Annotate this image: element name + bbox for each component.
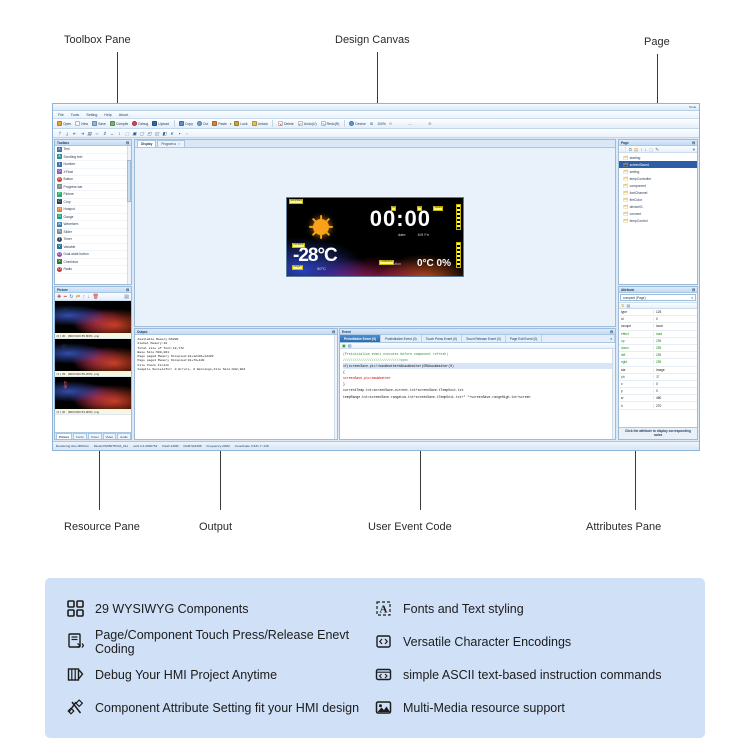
page-item-starting[interactable]: 🗂starting <box>619 154 697 161</box>
toolbox-item-timer[interactable]: TTimer <box>55 236 131 244</box>
delete-icon[interactable]: 🗑 <box>93 293 99 301</box>
toolbar-button-label: Copy <box>185 122 193 126</box>
lcd-date-label: date <box>398 232 406 237</box>
toolbox-item-label: Picture <box>64 192 74 196</box>
hotspot-icon: H <box>57 207 62 212</box>
design-canvas[interactable]: -28°C 50°C 00:00 date 6/9 Fri LowButton … <box>135 148 615 326</box>
move-down-icon[interactable]: ↓ <box>88 293 91 301</box>
resource-item[interactable]: ❄ (1 ) 39 · (800X320 85.2KB) .png <box>55 339 131 377</box>
attribute-value[interactable]: local <box>653 324 697 328</box>
variable-icon: V <box>57 244 62 249</box>
output-text[interactable]: Available Memory:65200 Global Memory:10 … <box>135 335 337 439</box>
menu-item-help[interactable]: Help <box>104 113 111 117</box>
page-item-label: component <box>630 184 646 188</box>
event-tab-touch-release[interactable]: Touch Release Event (0) <box>462 335 506 342</box>
component-tag: t1 <box>417 206 422 211</box>
toolbar-button-label: Upload <box>158 122 169 126</box>
toolbox-item-label: Radio <box>64 267 73 271</box>
attributes-title: Attribute <box>621 288 634 292</box>
page-item-tempcontrol[interactable]: 🗂tempControl <box>619 217 697 224</box>
toolbar-button-copy[interactable]: Copy <box>178 121 194 126</box>
lock-icon <box>234 121 239 126</box>
callout-line <box>99 450 100 510</box>
toolbox-item-label: Button <box>64 177 74 181</box>
toolbox-item-label: Timer <box>64 237 72 241</box>
toolbox-item-radio[interactable]: ORadio <box>55 266 131 274</box>
page-title: Page <box>621 141 629 145</box>
toolbox-item-scrolling-text[interactable]: AScrolling text <box>55 154 131 162</box>
code-line: tempRange.txt=screenSave.rangeLow.txt+sc… <box>343 394 612 400</box>
toolbar-zoom-level[interactable]: 100% <box>376 122 387 126</box>
attribute-key: h <box>619 404 653 408</box>
sort-icon[interactable]: ⇅ <box>621 303 625 308</box>
attribute-row[interactable]: type125 <box>619 309 697 316</box>
page-icon: 🗂 <box>623 211 628 216</box>
attribute-row[interactable]: pic37 <box>619 374 697 381</box>
code-scrollbar[interactable] <box>612 349 616 439</box>
size-icon[interactable]: ◧ <box>162 131 167 136</box>
status-model: Model:HMI80TP043_011 <box>94 444 128 448</box>
open-icon <box>57 121 62 126</box>
toolbox-pane: Toolbox ⊟ AText AScrolling text 1Number … <box>54 139 132 285</box>
attribute-key: down <box>619 346 653 350</box>
same-size-icon[interactable]: ⬚ <box>125 131 130 136</box>
align-bottom-icon[interactable]: ⤓ <box>65 131 70 136</box>
attribute-row[interactable]: w480 <box>619 395 697 402</box>
resource-item[interactable]: 🌡 (2 ) 40 · (800X320 84.9KB) .png <box>55 377 131 415</box>
toolbox-item-variable[interactable]: VVariable <box>55 244 131 252</box>
save-icon <box>92 121 97 126</box>
attribute-value[interactable]: 37 <box>653 375 697 379</box>
cut-icon <box>197 121 202 126</box>
delete-page-icon[interactable]: ▢ <box>649 146 653 153</box>
toolbar-button-redo[interactable]: ↷Redo(R) <box>320 121 341 126</box>
toolbox-item-xfloat[interactable]: 0XFloat <box>55 169 131 177</box>
page-list[interactable]: 🗂starting 🗂screenSaved 🗂setting 🗂tempCon… <box>619 153 697 284</box>
remove-icon[interactable]: ━ <box>64 293 67 301</box>
bottom-split: Output ⊟ Available Memory:65200 Global M… <box>134 328 616 440</box>
page-item-label: tempControl <box>630 219 648 223</box>
page-item-label: device01 <box>630 205 643 209</box>
design-canvas-pane: Display Program.s✕ -28°C 50°C 00:00 date… <box>134 139 616 327</box>
page-item-label: screenSaved <box>630 163 649 167</box>
callout-label: Attributes Pane <box>586 521 661 533</box>
attribute-key: sta <box>619 368 653 372</box>
move-up-icon[interactable]: ↑ <box>640 146 642 153</box>
redo-icon: ↷ <box>321 121 326 126</box>
menu-item-setting[interactable]: Setting <box>86 113 97 117</box>
status-coordinate: Coordinate X:631 Y:-138 <box>235 444 269 448</box>
toolbar-button-upload[interactable]: Upload <box>151 121 170 126</box>
zoom-out-icon[interactable]: ⊖ <box>389 121 392 126</box>
lcd-low-values: 0°C 0% <box>417 258 451 269</box>
output-line: Compile Successful! 0 Errors, 0 Warnings… <box>138 367 335 371</box>
new-page-icon[interactable]: 📄 <box>621 146 627 153</box>
right-ruler-bottom <box>456 242 461 268</box>
page-icon: 🗂 <box>623 204 628 209</box>
new-icon <box>75 121 80 126</box>
title-bar-right-label: Tools <box>689 105 696 109</box>
component-tag: LowButton <box>379 260 394 265</box>
toolbox-item-label: Slider <box>64 230 72 234</box>
toolbar-button-device[interactable]: Device <box>348 121 366 126</box>
dual-state-button-icon: D <box>57 252 62 257</box>
help-icon[interactable]: ▤ <box>348 343 352 348</box>
attribute-value[interactable]: 480 <box>653 396 697 400</box>
toolbox-item-checkbox[interactable]: XCheckbox <box>55 259 131 267</box>
toolbox-item-label: Text <box>64 147 70 151</box>
attribute-row[interactable]: effectload <box>619 331 697 338</box>
attribute-row[interactable]: up255 <box>619 338 697 345</box>
page-item-label: starting <box>630 156 641 160</box>
toolbar-button-open[interactable]: Open <box>56 121 72 126</box>
send-back-icon[interactable]: ◱ <box>155 131 160 136</box>
feature-strip: 29 WYSIWYG Components A Fonts and Text s… <box>45 578 705 738</box>
toolbox-item-hotspot[interactable]: HHotspot <box>55 206 131 214</box>
title-bar: Tools <box>53 104 699 111</box>
align-right-icon[interactable]: ⇥ <box>80 131 85 136</box>
toolbar-separator <box>344 120 345 127</box>
feature-event-coding: Page/Component Touch Press/Release Enevt… <box>67 628 375 656</box>
font-icon[interactable]: € <box>170 131 175 136</box>
resource-tabs[interactable]: Picture Fonts Unset Video Audio <box>55 432 131 439</box>
toolbar-button-paste[interactable]: Paste <box>211 121 228 126</box>
feature-label: Versatile Character Encodings <box>403 635 571 649</box>
same-height-icon[interactable]: ↕ <box>117 131 122 136</box>
component-tag: speed <box>433 206 443 211</box>
align-left-icon[interactable]: ⇤ <box>72 131 77 136</box>
group-icon[interactable]: ▣ <box>132 131 137 136</box>
callout-label: Resource Pane <box>64 521 140 533</box>
paste-dropdown-arrow-icon[interactable]: ▾ <box>230 122 232 126</box>
gauge-icon: G <box>57 214 62 219</box>
attribute-value[interactable]: 255 <box>653 360 697 364</box>
resource-thumbnail: ❄ <box>55 339 131 371</box>
code-brackets-icon <box>375 633 392 650</box>
attribute-row[interactable]: vscopelocal <box>619 323 697 330</box>
attribute-value[interactable]: 255 <box>653 353 697 357</box>
main-toolbar[interactable]: Open New Save Compile Debug Upload Copy … <box>53 119 699 129</box>
page-icon: 🗂 <box>623 183 628 188</box>
page-item-label: setting <box>630 170 640 174</box>
replace-icon[interactable]: ⇄ <box>76 293 80 301</box>
page-item-device01[interactable]: 🗂device01 <box>619 203 697 210</box>
page-item-screensaved[interactable]: 🗂screenSaved <box>619 161 697 168</box>
attributes-object-selector[interactable]: compset (Page) ▾ <box>620 294 696 301</box>
component-tag: t0 <box>391 206 396 211</box>
bold-icon[interactable]: ▪ <box>177 131 182 136</box>
right-ruler-top <box>456 204 461 230</box>
status-flash: Flash:128M <box>162 444 178 448</box>
distribute-h-icon[interactable]: ⇔ <box>95 131 100 136</box>
resource-tab-picture[interactable]: Picture <box>56 433 72 439</box>
page-item-setting[interactable]: 🗂setting <box>619 168 697 175</box>
attribute-row[interactable]: x0 <box>619 381 697 388</box>
resource-toolbar[interactable]: ✚ ━ ↻ ⇄ ↑ ↓ 🗑 ▤ <box>55 293 131 301</box>
refresh-icon[interactable]: ↻ <box>69 293 73 301</box>
page-toolbar[interactable]: 📄 ⧉ ▤ ↑ ↓ ▢ ✎ ▾ <box>619 146 697 153</box>
tab-display[interactable]: Display <box>137 140 156 147</box>
feature-component-attribute-setting: Component Attribute Setting fit your HMI… <box>67 699 375 716</box>
attribute-row[interactable]: y0 <box>619 388 697 395</box>
resource-title: Picture <box>57 288 68 292</box>
ungroup-icon[interactable]: ▢ <box>140 131 145 136</box>
toolbox-item-picture[interactable]: PPicture <box>55 191 131 199</box>
feature-fonts-text-styling: A Fonts and Text styling <box>375 600 683 617</box>
lcd-date: date 6/9 Fri <box>398 232 429 237</box>
attribute-key: up <box>619 339 653 343</box>
debug-icon <box>67 666 84 683</box>
rename-icon[interactable]: ✎ <box>655 146 659 153</box>
attribute-row[interactable]: id0 <box>619 316 697 323</box>
page-item-connect[interactable]: 🗂connect <box>619 210 697 217</box>
button-icon: B <box>57 177 62 182</box>
attributes-toolbar[interactable]: ⇅ ▤ <box>619 302 697 309</box>
media-icon <box>375 699 392 716</box>
italic-icon[interactable]: ▫ <box>185 131 190 136</box>
toolbox-item-gauge[interactable]: GGauge <box>55 214 131 222</box>
toolbar-button-undo[interactable]: ↶Undo(U) <box>297 121 318 126</box>
toolbox-item-waveform[interactable]: WWaveform <box>55 221 131 229</box>
page-item-fontchannel[interactable]: 🗂fontChannel <box>619 189 697 196</box>
toolbox-item-label: Waveform <box>64 222 79 226</box>
page-item-component[interactable]: 🗂component <box>619 182 697 189</box>
toolbox-item-button[interactable]: BButton <box>55 176 131 184</box>
sun-icon <box>313 219 329 235</box>
feature-label: Fonts and Text styling <box>403 602 524 616</box>
add-icon[interactable]: ✚ <box>57 293 61 301</box>
toolbar-button-compile[interactable]: Compile <box>109 121 129 126</box>
resource-caption: (1 ) 39 · (800X320 85.2KB) .png <box>55 371 131 376</box>
toolbar-button-lock[interactable]: Lock <box>233 121 248 126</box>
menu-item-about[interactable]: About <box>119 113 128 117</box>
toolbox-item-slider[interactable]: SSlider <box>55 229 131 237</box>
toolbox-item-dual-state-button[interactable]: DDual-state button <box>55 251 131 259</box>
component-tag: rangeT <box>292 265 303 270</box>
toolbox-list[interactable]: AText AScrolling text 1Number 0XFloat BB… <box>55 146 131 284</box>
pin-icon[interactable]: ⊟ <box>126 288 129 292</box>
pin-icon[interactable]: ⊟ <box>692 288 695 292</box>
crop-icon: C <box>57 199 62 204</box>
insert-icon[interactable]: ▣ <box>342 343 346 348</box>
toolbox-item-text[interactable]: AText <box>55 146 131 154</box>
resource-list[interactable]: ☁ (0 ) 30 · (800X320 85.8KB) .png ❄ (1 )… <box>55 301 131 432</box>
output-title: Output <box>137 330 147 334</box>
slider-icon: S <box>57 229 62 234</box>
lcd-temp-range: 50°C <box>317 266 326 271</box>
feature-label: Page/Component Touch Press/Release Enevt… <box>95 628 375 656</box>
page-item-tempcontroller[interactable]: 🗂tempController <box>619 175 697 182</box>
attribute-value[interactable]: 125 <box>653 310 697 314</box>
toolbox-item-label: Crop <box>64 200 71 204</box>
undo-icon: ↶ <box>298 121 303 126</box>
paste-page-icon[interactable]: ▤ <box>634 146 638 153</box>
category-icon[interactable]: ▤ <box>627 303 631 308</box>
zoom-in-icon[interactable]: ⊕ <box>428 121 431 126</box>
settings-icon[interactable]: ▾ <box>693 146 695 153</box>
page-item-firecolor[interactable]: 🗂fireColor <box>619 196 697 203</box>
output-pane: Output ⊟ Available Memory:65200 Global M… <box>134 328 338 440</box>
attribute-icon <box>67 699 84 716</box>
event-tab-page-exit[interactable]: Page Exit Event (0) <box>506 335 542 342</box>
toolbar-separator <box>174 120 175 127</box>
attribute-key: id <box>619 317 653 321</box>
toolbox-scrollbar[interactable] <box>127 146 131 284</box>
feature-ascii-instruction-commands: simple ASCII text-based instruction comm… <box>375 666 683 683</box>
toolbar-button-label: Delete <box>284 122 294 126</box>
snowflake-icon: ❄ <box>61 344 67 351</box>
toolbar-button-label: Open <box>63 122 71 126</box>
event-tabs-overflow-icon[interactable]: ▾ <box>608 335 615 342</box>
resource-tab-video[interactable]: Video <box>103 433 117 439</box>
move-down-icon[interactable]: ↓ <box>645 146 647 153</box>
menu-item-tools[interactable]: Tools <box>71 113 79 117</box>
align-toolbar[interactable]: ⤒ ⤓ ⇤ ⇥ ▤ ⇔ ⇕ ↔ ↕ ⬚ ▣ ▢ ◰ ◱ ◧ € ▪ ▫ <box>53 129 699 138</box>
chevron-down-icon[interactable]: ▾ <box>691 296 693 300</box>
toolbox-item-crop[interactable]: CCrop <box>55 199 131 207</box>
scrolling-text-icon: A <box>57 154 62 159</box>
align-center-icon[interactable]: ▤ <box>87 131 92 136</box>
toolbar-button-save[interactable]: Save <box>91 121 107 126</box>
pin-icon[interactable]: ⊟ <box>692 141 695 145</box>
bring-front-icon[interactable]: ◰ <box>147 131 152 136</box>
event-code-editor[interactable]: (Preinitialize event executes before com… <box>340 349 615 439</box>
component-tag: curTemp <box>292 243 305 248</box>
callout-label: Design Canvas <box>335 34 410 46</box>
toolbar-button-unlock[interactable]: Unlock <box>251 121 269 126</box>
callout-label: User Event Code <box>368 521 452 533</box>
event-tab-postinitialize[interactable]: Postinitialize Event (0) <box>381 335 422 342</box>
attributes-hint: Click the attribute to display correspon… <box>619 427 697 439</box>
attribute-row[interactable]: right255 <box>619 359 697 366</box>
attribute-row[interactable]: down255 <box>619 345 697 352</box>
attribute-value[interactable]: 0 <box>653 382 697 386</box>
event-tab-touch-press[interactable]: Touch Press Event (0) <box>422 335 462 342</box>
toolbar-button-debug[interactable]: Debug <box>131 121 149 126</box>
debug-icon <box>132 121 137 126</box>
copy-icon <box>179 121 184 126</box>
tab-program[interactable]: Program.s✕ <box>157 140 184 147</box>
event-title: Event <box>342 330 351 334</box>
output-scrollbar[interactable] <box>334 335 338 439</box>
resource-tab-unset[interactable]: Unset <box>88 433 102 439</box>
distribute-v-icon[interactable]: ⇕ <box>102 131 107 136</box>
copy-page-icon[interactable]: ⧉ <box>629 146 632 153</box>
pin-icon[interactable]: ⊟ <box>332 330 335 334</box>
pin-icon[interactable]: ⊟ <box>126 141 129 145</box>
status-version: ver6.4.3-0000752 <box>133 444 157 448</box>
toolbox-item-label: Dual-state button <box>64 252 89 256</box>
lcd-preview[interactable]: -28°C 50°C 00:00 date 6/9 Fri LowButton … <box>286 197 464 277</box>
attribute-key: left <box>619 353 653 357</box>
attribute-key: y <box>619 389 653 393</box>
component-tag: tempStart <box>289 199 303 204</box>
same-width-icon[interactable]: ↔ <box>110 131 115 136</box>
move-up-icon[interactable]: ↑ <box>83 293 86 301</box>
unlock-icon <box>252 121 257 126</box>
zoom-slider[interactable]: — <box>408 121 412 126</box>
attribute-row[interactable]: staimage <box>619 367 697 374</box>
attribute-row[interactable]: h270 <box>619 402 697 409</box>
toolbar-button-new[interactable]: New <box>74 121 89 126</box>
xfloat-icon: 0 <box>57 169 62 174</box>
feature-multimedia-resource-support: Multi-Media resource support <box>375 699 683 716</box>
attribute-value[interactable]: 255 <box>653 339 697 343</box>
resource-item[interactable]: ☁ (0 ) 30 · (800X320 85.8KB) .png <box>55 301 131 339</box>
align-top-icon[interactable]: ⤒ <box>57 131 62 136</box>
checkbox-icon: X <box>57 259 62 264</box>
pin-icon[interactable]: ⊟ <box>610 330 613 334</box>
attribute-key: type <box>619 310 653 314</box>
attribute-value[interactable]: 270 <box>653 404 697 408</box>
resource-tab-fonts[interactable]: Fonts <box>73 433 87 439</box>
font-a-icon: A <box>375 600 392 617</box>
event-tabs[interactable]: Preinitialize Event (0) Postinitialize E… <box>340 335 615 343</box>
attribute-value[interactable]: image <box>653 368 697 372</box>
page-item-label: tempController <box>630 177 652 181</box>
number-icon: 1 <box>57 162 62 167</box>
text-icon: A <box>57 147 62 152</box>
tab-label: Program.s <box>161 142 176 146</box>
resource-caption: (0 ) 30 · (800X320 85.8KB) .png <box>55 333 131 338</box>
resource-tab-audio[interactable]: Audio <box>117 433 131 439</box>
callout-label: Page <box>644 36 670 48</box>
attribute-key: vscope <box>619 324 653 328</box>
toolbar-button-cut[interactable]: Cut <box>196 121 209 126</box>
toolbar-button-delete[interactable]: ✕Delete <box>277 121 295 126</box>
cloud-icon: ☁ <box>61 306 68 313</box>
page-icon: 🗂 <box>623 155 628 160</box>
settings-icon[interactable]: ▤ <box>124 293 129 301</box>
event-tab-preinitialize[interactable]: Preinitialize Event (0) <box>340 335 381 342</box>
page-item-label: fontChannel <box>630 191 648 195</box>
attributes-grid[interactable]: type125 id0 vscopelocal effectload up255… <box>619 309 697 427</box>
scrollbar-thumb[interactable] <box>127 160 130 202</box>
menu-bar[interactable]: File Tools Setting Help About <box>53 111 699 119</box>
menu-item-file[interactable]: File <box>58 113 64 117</box>
attribute-value[interactable]: load <box>653 332 697 336</box>
attribute-value[interactable]: 255 <box>653 346 697 350</box>
zoom-level-label: 100% <box>377 122 386 126</box>
feature-label: Multi-Media resource support <box>403 701 565 715</box>
attribute-value[interactable]: 0 <box>653 317 697 321</box>
toolbar-button-label: Lock <box>240 122 247 126</box>
attribute-value[interactable]: 0 <box>653 389 697 393</box>
close-icon[interactable]: ✕ <box>178 142 181 146</box>
toolbar-id-label: ID <box>370 122 373 126</box>
page-icon: 🗂 <box>623 169 628 174</box>
resource-caption: (2 ) 40 · (800X320 84.9KB) .png <box>55 409 131 414</box>
toolbox-item-label: Number <box>64 162 76 166</box>
toolbox-item-label: Checkbox <box>64 260 79 264</box>
toolbox-item-label: Progress bar <box>64 185 83 189</box>
terminal-icon <box>375 666 392 683</box>
page-icon: 🗂 <box>623 218 628 223</box>
attribute-row[interactable]: left255 <box>619 352 697 359</box>
toolbox-item-number[interactable]: 1Number <box>55 161 131 169</box>
attribute-key: w <box>619 396 653 400</box>
document-tabs[interactable]: Display Program.s✕ <box>135 140 615 148</box>
toolbar-button-label: Redo(R) <box>327 122 340 126</box>
toolbox-item-progress-bar[interactable]: =Progress bar <box>55 184 131 192</box>
feature-label: Component Attribute Setting fit your HMI… <box>95 701 359 715</box>
page-icon: 🗂 <box>623 162 628 167</box>
toolbox-item-label: Gauge <box>64 215 74 219</box>
status-ram: RAM:524288 <box>183 444 201 448</box>
status-frequency: Frequency:200M <box>207 444 230 448</box>
toolbar-button-label: Device <box>355 122 365 126</box>
attribute-key: x <box>619 382 653 386</box>
